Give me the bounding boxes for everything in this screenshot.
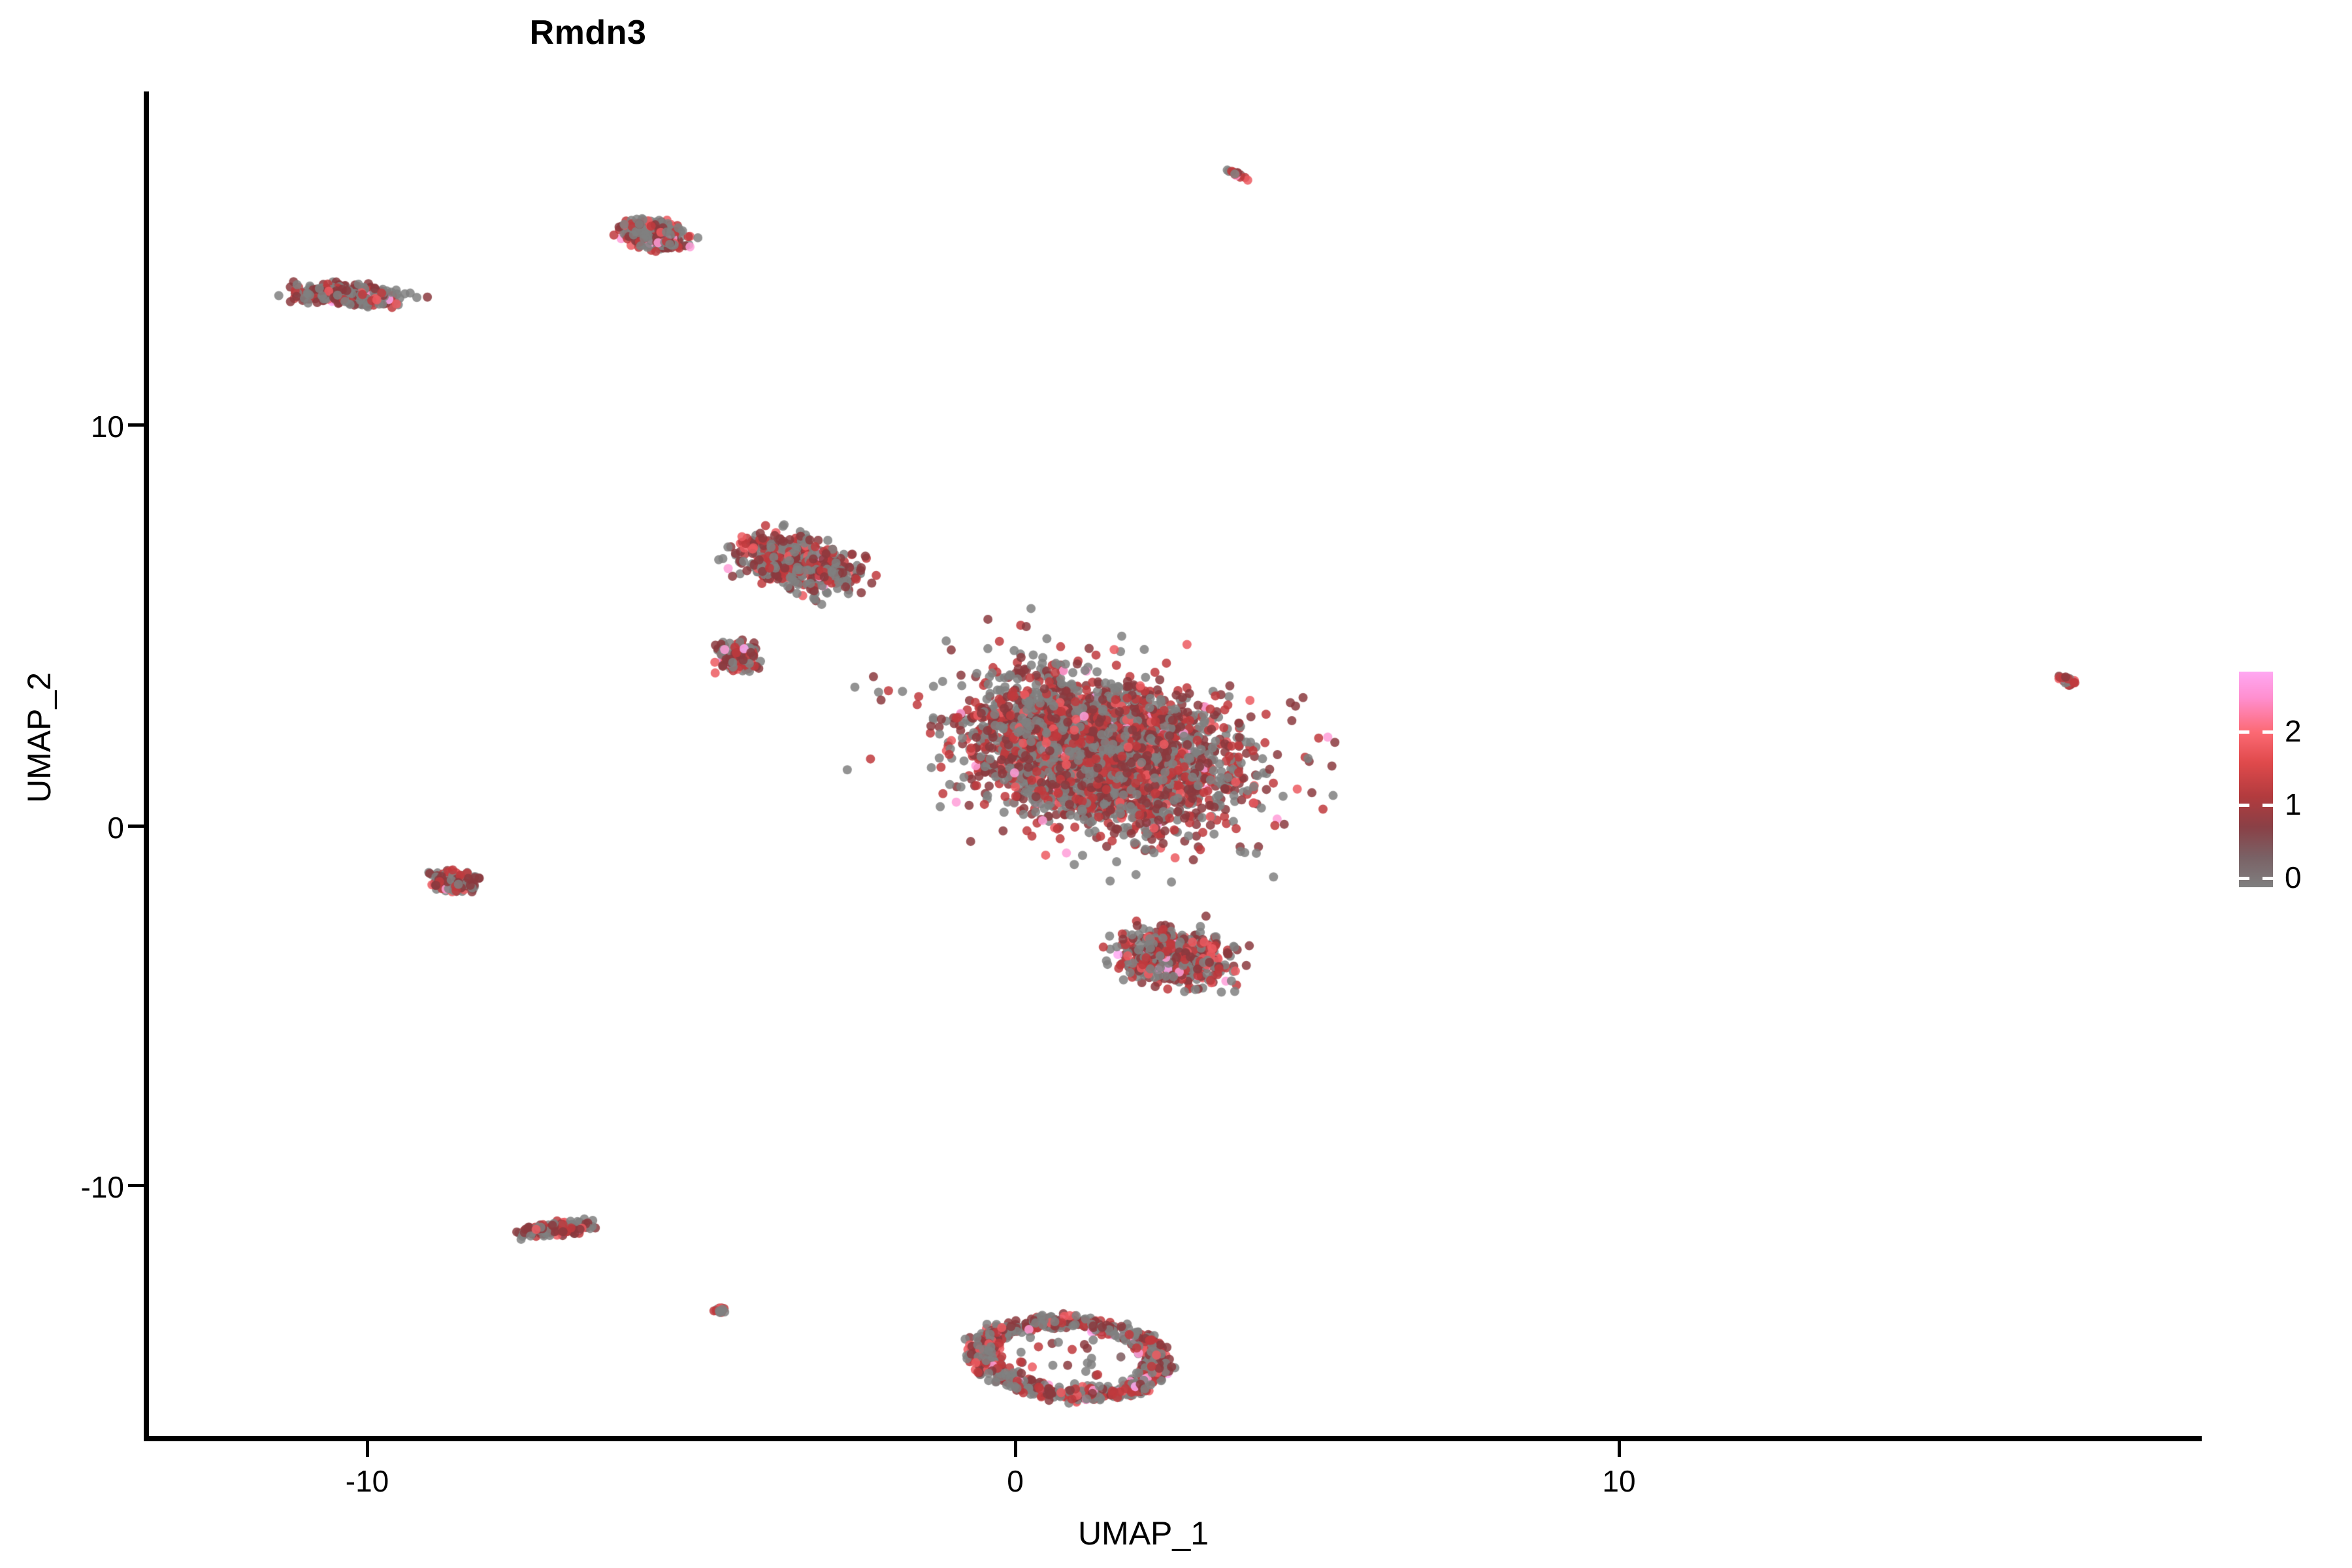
colorbar-tick bbox=[2239, 804, 2249, 807]
colorbar-tick bbox=[2262, 730, 2273, 734]
colorbar-tick bbox=[2262, 877, 2273, 880]
y-tick-mark bbox=[128, 825, 144, 828]
scatter-plot-canvas bbox=[0, 0, 2352, 1568]
page-title: Rmdn3 bbox=[0, 13, 1764, 52]
colorbar-label-2: 2 bbox=[2285, 716, 2302, 746]
x-tick-label: -10 bbox=[302, 1463, 433, 1499]
x-tick-label: 10 bbox=[1554, 1463, 1684, 1499]
colorbar-gradient bbox=[2239, 672, 2273, 887]
x-tick-mark bbox=[1618, 1441, 1621, 1457]
colorbar-legend: 2 1 0 bbox=[2239, 672, 2273, 887]
colorbar-tick bbox=[2239, 730, 2249, 734]
x-axis-line bbox=[144, 1436, 2202, 1441]
y-axis-line bbox=[144, 91, 149, 1441]
x-tick-mark bbox=[1014, 1441, 1017, 1457]
umap-feature-plot: Rmdn3 -10 0 10 -10 0 10 UMAP_1 UMAP_2 2 … bbox=[0, 0, 2352, 1568]
y-axis-title: UMAP_2 bbox=[20, 476, 58, 999]
colorbar-label-0: 0 bbox=[2285, 862, 2302, 892]
y-tick-mark bbox=[128, 1184, 144, 1187]
colorbar-tick bbox=[2239, 877, 2249, 880]
colorbar-label-1: 1 bbox=[2285, 789, 2302, 819]
x-tick-label: 0 bbox=[950, 1463, 1081, 1499]
x-axis-title: UMAP_1 bbox=[849, 1514, 1437, 1552]
y-tick-mark bbox=[128, 423, 144, 427]
y-tick-label: 10 bbox=[39, 409, 124, 444]
y-tick-label: -10 bbox=[39, 1169, 124, 1205]
colorbar-tick bbox=[2262, 804, 2273, 807]
x-tick-mark bbox=[366, 1441, 369, 1457]
